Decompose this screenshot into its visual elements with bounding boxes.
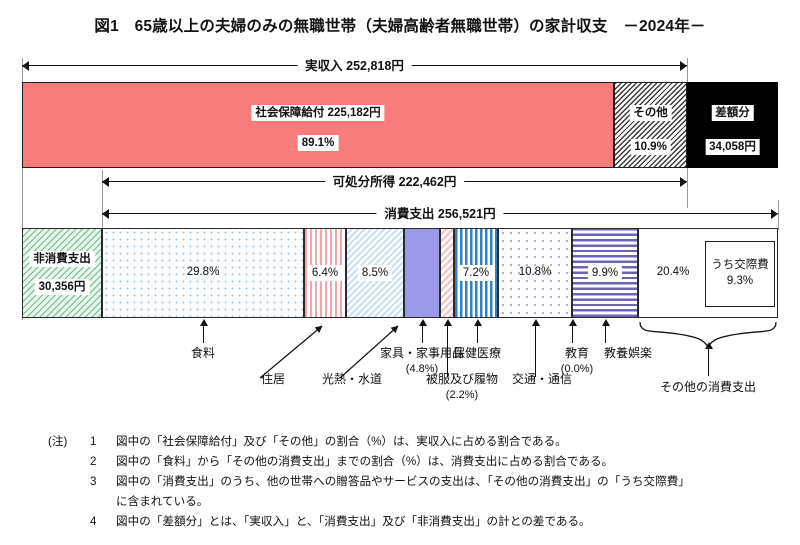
footnote-continuation: に含まれている。 (48, 492, 788, 512)
income-dimension: 実収入 252,818円 (22, 59, 687, 73)
segment-culture-recreation[interactable]: 9.9% (572, 228, 638, 318)
segment-non-consumption[interactable]: 非消費支出 30,356円 (22, 228, 102, 318)
segment-food-percent: 29.8% (187, 265, 220, 279)
income-dimension-label: 実収入 252,818円 (297, 55, 412, 74)
footnote-row: 2 図中の「食料」から「その他の消費支出」までの割合（%）は、消費支出に占める割… (48, 452, 788, 472)
callout-food: 食料 (191, 346, 215, 362)
footnote-row: (注) 1 図中の「社会保障給付」及び「その他」の割合（%）は、実収入に占める割… (48, 432, 788, 452)
footnote-marker: (注) (48, 432, 90, 452)
segment-housing-percent: 6.4% (308, 265, 342, 281)
segment-deficit[interactable]: 差額分 34,058円 (687, 82, 778, 168)
page-title: 図1 65歳以上の夫婦のみの無職世帯（夫婦高齢者無職世帯）の家計収支 －2024… (0, 14, 800, 36)
brace-other-consumption (638, 320, 800, 350)
footnote-number: 1 (90, 432, 116, 452)
footnote-number: 2 (90, 452, 116, 472)
segment-housing[interactable]: 6.4% (304, 228, 346, 318)
segment-furniture[interactable] (404, 228, 440, 318)
inner-box-label: うち交際費 (711, 258, 769, 274)
callout-clothing-percent: (2.2%) (426, 388, 498, 402)
segment-other-consumption-percent: 20.4% (657, 265, 690, 279)
tick-culture (605, 325, 606, 343)
callout-utilities: 光熱・水道 (322, 372, 382, 388)
segment-social-security[interactable]: 社会保障給付 225,182円 89.1% (22, 82, 614, 168)
consumption-dimension-label: 消費支出 256,521円 (376, 203, 503, 222)
expenditure-bar: 非消費支出 30,356円 29.8% 6.4% 8.5% 7.2% 10.8% (22, 228, 778, 318)
segment-transport[interactable]: 10.8% (498, 228, 572, 318)
segment-deficit-label: 差額分 (711, 105, 754, 121)
disposable-income-dimension: 可処分所得 222,462円 (102, 175, 687, 189)
segment-health-percent: 7.2% (459, 265, 493, 281)
segment-social-security-percent: 89.1% (298, 135, 339, 151)
segment-social-security-label: 社会保障給付 225,182円 (251, 105, 384, 121)
segment-utilities-percent: 8.5% (358, 265, 392, 281)
segment-utilities[interactable]: 8.5% (346, 228, 404, 318)
footnote-number: 3 (90, 472, 116, 492)
segment-non-consumption-label: 非消費支出 (29, 251, 95, 267)
callout-furniture-label: 家具・家事用品 (380, 346, 464, 360)
segment-clothing[interactable] (440, 228, 454, 318)
segment-other-income-percent: 10.9% (630, 139, 671, 155)
callout-education-label: 教育 (565, 346, 589, 360)
segment-transport-percent: 10.8% (519, 265, 552, 279)
segment-non-consumption-value: 30,356円 (35, 279, 90, 295)
footnote-text: 図中の「消費支出」のうち、他の世帯への贈答品やサービスの支出は、「その他の消費支… (116, 472, 788, 492)
consumption-arrow-right (771, 209, 778, 219)
segment-other-income-label: その他 (629, 105, 672, 121)
callout-clothing: 被服及び履物 (2.2%) (426, 372, 498, 402)
inner-box-percent: 9.3% (727, 274, 753, 290)
consumption-arrow-left (102, 209, 109, 219)
tick-transport (535, 325, 536, 377)
callout-clothing-label: 被服及び履物 (426, 372, 498, 386)
footnote-row: 3 図中の「消費支出」のうち、他の世帯への贈答品やサービスの支出は、「その他の消… (48, 472, 788, 492)
disposable-arrow-right (680, 177, 687, 187)
callout-culture: 教養娯楽 (604, 346, 652, 362)
segment-food[interactable]: 29.8% (102, 228, 304, 318)
consumption-dimension: 消費支出 256,521円 (102, 207, 778, 221)
income-bar: 社会保障給付 225,182円 89.1% その他 10.9% 差額分 34,0… (22, 82, 778, 168)
footnotes: (注) 1 図中の「社会保障給付」及び「その他」の割合（%）は、実収入に占める割… (48, 432, 788, 532)
footnote-text: 図中の「食料」から「その他の消費支出」までの割合（%）は、消費支出に占める割合で… (116, 452, 788, 472)
figure-root: 図1 65歳以上の夫婦のみの無職世帯（夫婦高齢者無職世帯）の家計収支 －2024… (0, 0, 800, 545)
segment-other-income[interactable]: その他 10.9% (614, 82, 687, 168)
segment-deficit-value: 34,058円 (705, 139, 760, 155)
tick-education (572, 325, 573, 343)
callout-housing: 住居 (261, 372, 285, 388)
segment-health[interactable]: 7.2% (454, 228, 498, 318)
callout-health: 保健医療 (453, 346, 501, 362)
inner-box-social-expenses[interactable]: うち交際費 9.3% (705, 241, 775, 307)
tick-other-consumption (708, 348, 709, 376)
tick-food (203, 325, 204, 343)
disposable-dimension-label: 可処分所得 222,462円 (325, 171, 465, 190)
disposable-arrow-left (102, 177, 109, 187)
income-arrow-left (22, 61, 29, 71)
footnote-text: 図中の「差額分」とは、「実収入」と、「消費支出」及び「非消費支出」の計との差であ… (116, 512, 788, 532)
callout-other-consumption: その他の消費支出 (660, 380, 756, 396)
footnote-text: 図中の「社会保障給付」及び「その他」の割合（%）は、実収入に占める割合である。 (116, 432, 788, 452)
callout-education-percent: (0.0%) (561, 362, 593, 376)
segment-other-consumption[interactable]: 20.4% うち交際費 9.3% (638, 228, 778, 318)
segment-culture-recreation-percent: 9.9% (588, 265, 622, 281)
income-arrow-right (680, 61, 687, 71)
footnote-number: 4 (90, 512, 116, 532)
footnote-row: 4 図中の「差額分」とは、「実収入」と、「消費支出」及び「非消費支出」の計との差… (48, 512, 788, 532)
callout-education: 教育 (0.0%) (561, 346, 593, 376)
guide-right (778, 200, 779, 230)
